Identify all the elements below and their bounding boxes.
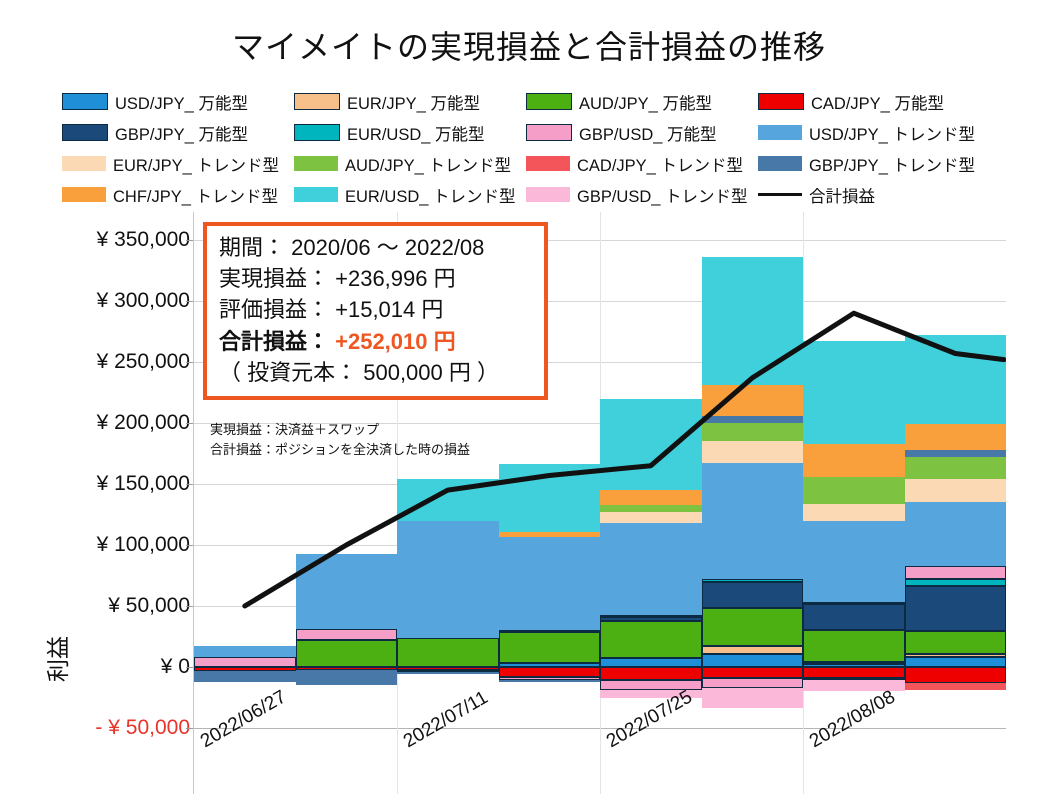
info-row-label: 実現損益： [219, 266, 335, 291]
bar-segment [905, 335, 1007, 424]
info-row-value: +236,996 円 [335, 266, 456, 291]
legend-item-label: GBP/USD_ 万能型 [579, 121, 717, 145]
legend-item-label: GBP/JPY_ 万能型 [115, 121, 248, 145]
y-tick-mark [186, 545, 193, 546]
y-tick-mark [186, 728, 193, 729]
legend-swatch-icon [62, 156, 106, 171]
bar-segment [499, 532, 601, 537]
bar-segment [905, 502, 1007, 567]
bar-segment [803, 444, 905, 477]
bar-segment [702, 463, 804, 579]
info-row-label: 評価損益： [219, 297, 335, 322]
bar-segment [803, 504, 905, 521]
info-row: （ 投資元本： 500,000 円 ） [219, 357, 532, 388]
legend-item-label: CHF/JPY_ トレンド型 [113, 183, 278, 207]
legend-item[interactable]: AUD/JPY_ 万能型 [526, 86, 758, 117]
legend-swatch-icon [526, 187, 570, 202]
legend-swatch-icon [526, 124, 572, 141]
legend-item-label: EUR/JPY_ トレンド型 [113, 152, 279, 176]
legend-item[interactable]: GBP/USD_ 万能型 [526, 117, 758, 148]
bar-segment [600, 621, 702, 658]
y-tick-mark [186, 423, 193, 424]
bar-segment [194, 671, 296, 682]
bar-segment [499, 537, 601, 630]
bar-segment [905, 586, 1007, 631]
info-row-label: （ 投資元本： [219, 360, 363, 385]
legend-swatch-icon [62, 93, 108, 110]
bar-segment [702, 385, 804, 416]
legend-item-label: EUR/JPY_ 万能型 [347, 90, 480, 114]
legend-item[interactable]: GBP/JPY_ トレンド型 [758, 148, 998, 179]
bar-segment [905, 631, 1007, 654]
summary-info-box: 期間： 2020/06 〜 2022/08実現損益： +236,996 円評価損… [203, 222, 548, 400]
legend-item[interactable]: EUR/JPY_ 万能型 [294, 86, 526, 117]
bar-segment [600, 523, 702, 615]
info-row: 期間： 2020/06 〜 2022/08 [219, 232, 532, 263]
bar-segment [803, 630, 905, 662]
bar-segment [803, 667, 905, 678]
bar-stack[interactable] [702, 212, 804, 794]
bar-segment [702, 688, 804, 709]
y-tick-label: ¥ 150,000 [25, 472, 190, 496]
y-tick-mark [186, 362, 193, 363]
legend-swatch-icon [294, 93, 340, 110]
legend-item-label: USD/JPY_ 万能型 [115, 90, 248, 114]
bar-segment [905, 457, 1007, 479]
legend-swatch-icon [526, 93, 572, 110]
bar-segment [905, 424, 1007, 451]
bar-segment [499, 630, 601, 632]
info-row-label: 期間： [219, 235, 291, 260]
legend-swatch-icon [62, 187, 106, 202]
bar-segment [194, 646, 296, 657]
legend-item-label: GBP/JPY_ トレンド型 [809, 152, 975, 176]
y-tick-label: ¥ 200,000 [25, 411, 190, 435]
y-tick-label: ¥ 300,000 [25, 289, 190, 313]
bar-segment [194, 657, 296, 667]
legend-swatch-icon [758, 93, 804, 110]
bar-segment [702, 646, 804, 653]
footnote-line: 実現損益：決済益＋スワップ [210, 420, 470, 440]
legend-swatch-icon [758, 156, 802, 171]
legend-item[interactable]: CHF/JPY_ トレンド型 [62, 179, 294, 210]
info-row: 評価損益： +15,014 円 [219, 294, 532, 325]
bar-segment [702, 678, 804, 688]
y-tick-mark [186, 484, 193, 485]
legend-swatch-icon [294, 156, 338, 171]
bar-segment [803, 662, 905, 664]
footnote-line: 合計損益：ポジションを全決済した時の損益 [210, 440, 470, 460]
legend-item[interactable]: GBP/USD_ トレンド型 [526, 179, 758, 210]
legend-item-label: AUD/JPY_ 万能型 [579, 90, 712, 114]
info-row-value: 2020/06 〜 2022/08 [291, 235, 484, 260]
bar-segment [905, 579, 1007, 586]
info-row-label: 合計損益： [219, 329, 335, 354]
bar-segment [702, 654, 804, 667]
legend-item-label: EUR/USD_ 万能型 [347, 121, 485, 145]
bar-segment [600, 399, 702, 491]
legend-item-label: USD/JPY_ トレンド型 [809, 121, 975, 145]
legend-line-icon [758, 193, 802, 196]
legend-swatch-icon [62, 124, 108, 141]
legend-item[interactable]: GBP/JPY_ 万能型 [62, 117, 294, 148]
legend-item[interactable]: EUR/JPY_ トレンド型 [62, 148, 294, 179]
bar-segment [803, 341, 905, 445]
legend-item-label: CAD/JPY_ トレンド型 [577, 152, 743, 176]
bar-segment [702, 423, 804, 441]
bar-segment [702, 667, 804, 678]
bar-segment [600, 617, 702, 621]
bar-segment [803, 521, 905, 602]
bar-segment [397, 521, 499, 638]
bar-stack[interactable] [905, 212, 1007, 794]
legend-item[interactable]: 合計損益 [758, 179, 998, 210]
bar-segment [499, 464, 601, 532]
bar-segment [600, 615, 702, 617]
footnote-block: 実現損益：決済益＋スワップ合計損益：ポジションを全決済した時の損益 [210, 420, 470, 460]
bar-segment [702, 582, 804, 609]
bar-segment [600, 658, 702, 667]
bar-segment [397, 638, 499, 667]
page-title: マイメイトの実現損益と合計損益の推移 [0, 22, 1058, 68]
bar-segment [702, 441, 804, 463]
legend-item-label: 合計損益 [809, 183, 875, 207]
chart-legend: USD/JPY_ 万能型EUR/JPY_ 万能型AUD/JPY_ 万能型CAD/… [62, 86, 1052, 210]
y-tick-label: ¥ 50,000 [25, 594, 190, 618]
legend-swatch-icon [758, 125, 802, 140]
bar-segment [702, 257, 804, 385]
info-row-value: +15,014 円 [335, 297, 443, 322]
bar-segment [600, 490, 702, 505]
y-axis-ticks: ¥ 350,000¥ 300,000¥ 250,000¥ 200,000¥ 15… [0, 212, 190, 794]
y-tick-mark [186, 240, 193, 241]
bar-segment [499, 680, 601, 682]
y-tick-mark [186, 301, 193, 302]
bar-segment [600, 505, 702, 512]
bar-segment [905, 667, 1007, 683]
bar-segment [803, 604, 905, 631]
bar-segment [499, 667, 601, 677]
bar-segment [905, 479, 1007, 502]
y-tick-mark [186, 667, 193, 668]
info-row-value: 500,000 円 ） [363, 360, 499, 385]
legend-item[interactable]: CAD/JPY_ 万能型 [758, 86, 998, 117]
chart-page: マイメイトの実現損益と合計損益の推移 USD/JPY_ 万能型EUR/JPY_ … [0, 0, 1058, 794]
legend-item-label: EUR/USD_ トレンド型 [345, 183, 516, 207]
legend-item[interactable]: USD/JPY_ トレンド型 [758, 117, 998, 148]
bar-segment [702, 608, 804, 646]
legend-item-label: AUD/JPY_ トレンド型 [345, 152, 511, 176]
y-tick-mark [186, 606, 193, 607]
bar-segment [296, 629, 398, 640]
bar-segment [905, 566, 1007, 578]
legend-item-label: CAD/JPY_ 万能型 [811, 90, 944, 114]
legend-swatch-icon [294, 124, 340, 141]
bar-segment [296, 670, 398, 685]
legend-item[interactable]: EUR/USD_ 万能型 [294, 117, 526, 148]
info-row: 合計損益： +252,010 円 [219, 326, 532, 357]
bar-segment [600, 667, 702, 680]
info-row: 実現損益： +236,996 円 [219, 263, 532, 294]
legend-swatch-icon [294, 187, 338, 202]
y-tick-label: ¥ 350,000 [25, 228, 190, 252]
y-tick-label: ¥ 100,000 [25, 533, 190, 557]
legend-swatch-icon [526, 156, 570, 171]
info-row-value: +252,010 円 [335, 329, 456, 354]
legend-item[interactable]: CAD/JPY_ トレンド型 [526, 148, 758, 179]
bar-segment [702, 416, 804, 423]
bar-segment [803, 602, 905, 604]
legend-item[interactable]: AUD/JPY_ トレンド型 [294, 148, 526, 179]
legend-item[interactable]: USD/JPY_ 万能型 [62, 86, 294, 117]
bar-segment [296, 554, 398, 630]
bar-segment [702, 579, 804, 581]
bar-segment [296, 640, 398, 667]
bar-segment [905, 683, 1007, 690]
legend-item-label: GBP/USD_ トレンド型 [577, 183, 748, 207]
bar-segment [499, 632, 601, 664]
legend-item[interactable]: EUR/USD_ トレンド型 [294, 179, 526, 210]
y-tick-label: - ¥ 50,000 [25, 716, 190, 740]
bar-segment [397, 672, 499, 674]
bar-segment [905, 657, 1007, 667]
bar-segment [397, 479, 499, 520]
y-tick-label: ¥ 250,000 [25, 350, 190, 374]
bar-segment [600, 512, 702, 523]
bar-segment [905, 450, 1007, 456]
bar-segment [803, 477, 905, 504]
bar-segment [905, 654, 1007, 657]
y-tick-label: ¥ 0 [25, 655, 190, 679]
